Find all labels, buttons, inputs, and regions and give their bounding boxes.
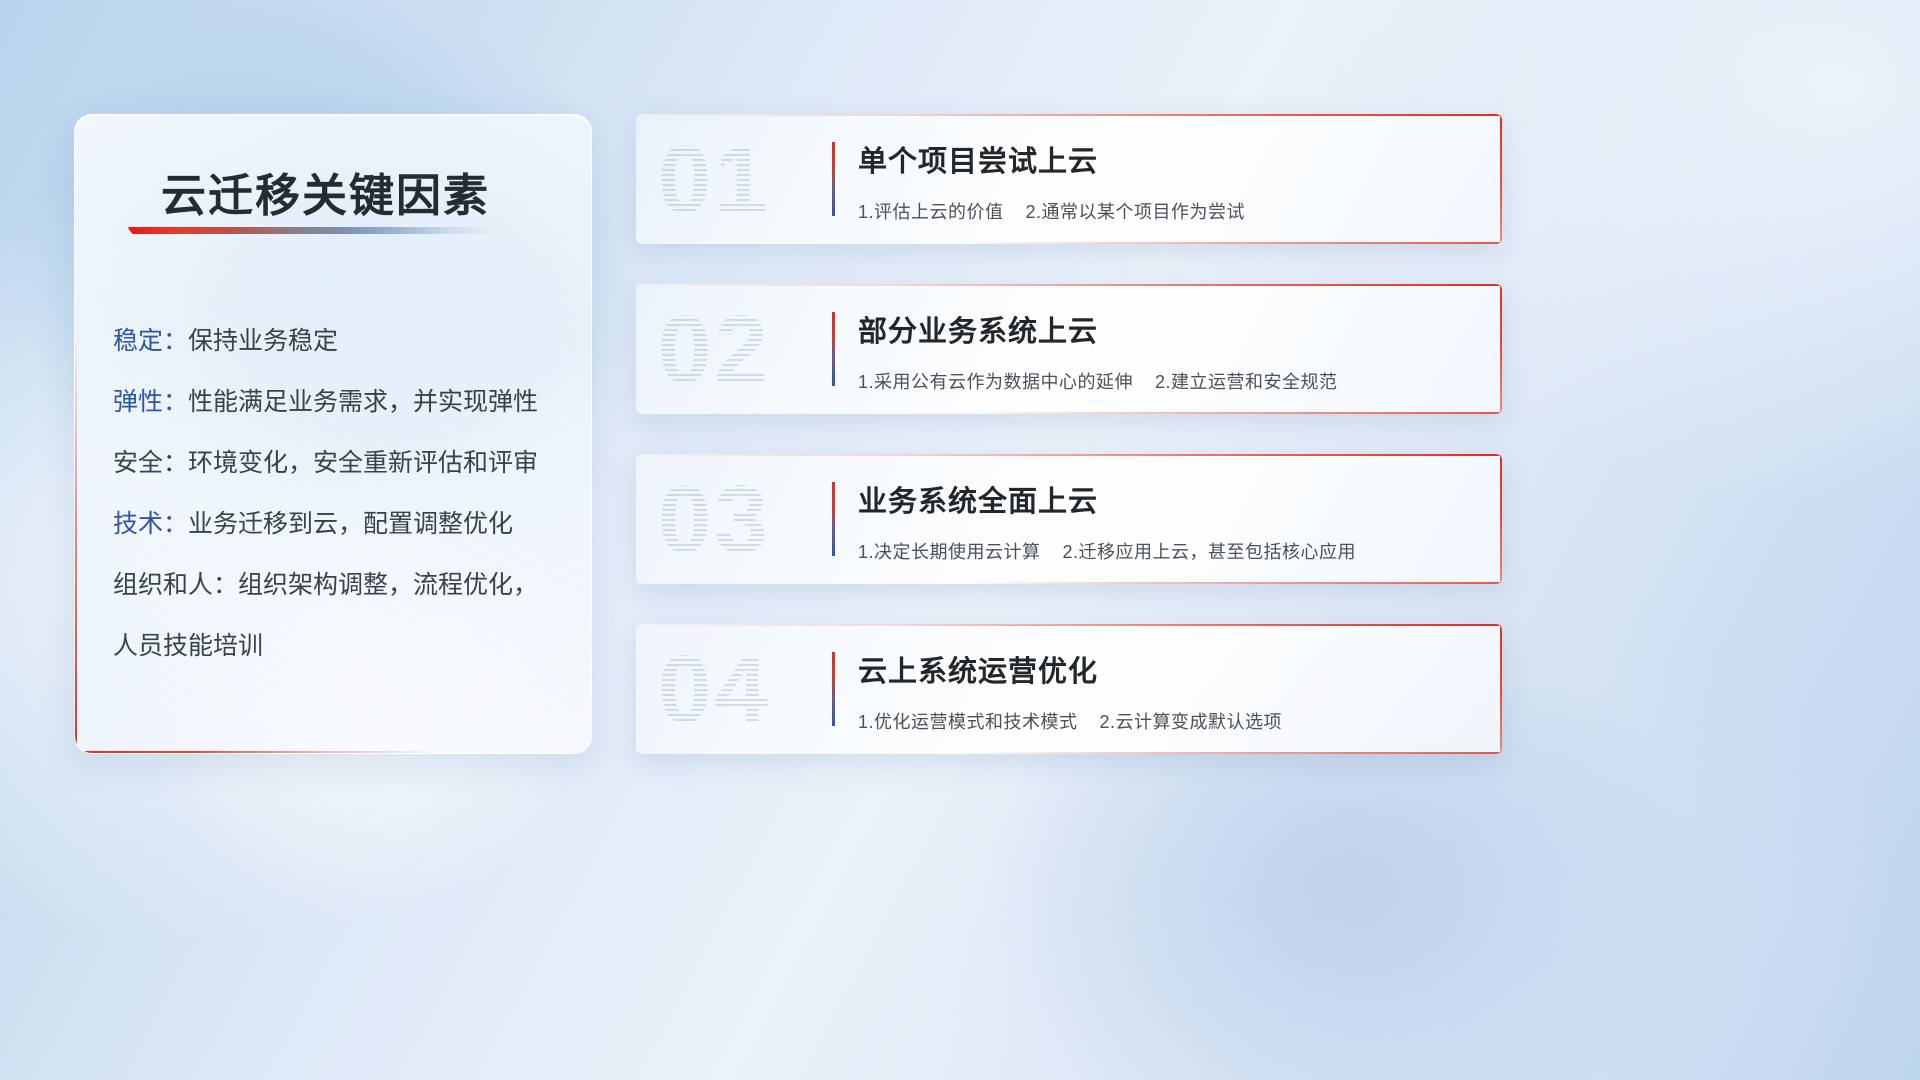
key-factor-text: 环境变化，安全重新评估和评审: [188, 449, 538, 477]
card-accent-bar: [832, 312, 835, 386]
card-title: 部分业务系统上云: [858, 308, 1098, 350]
stage-number-watermark: 02: [658, 294, 771, 406]
key-factor-label: 弹性：: [113, 388, 188, 416]
card-title: 业务系统全面上云: [858, 478, 1098, 520]
card-right-border: [1500, 114, 1502, 244]
card-bottom-border: [965, 412, 1502, 414]
key-factors-list: 稳定：保持业务稳定弹性：性能满足业务需求，并实现弹性安全：环境变化，安全重新评估…: [113, 311, 583, 677]
key-factor-label: 稳定：: [113, 327, 188, 355]
stage-card[interactable]: 02部分业务系统上云1.采用公有云作为数据中心的延伸2.建立运营和安全规范: [636, 284, 1502, 414]
card-accent-bar: [832, 652, 835, 726]
card-description-part-b: 2.迁移应用上云，甚至包括核心应用: [1063, 542, 1357, 562]
card-description-part-b: 2.云计算变成默认选项: [1100, 712, 1283, 732]
stage-number-watermark: 01: [658, 124, 771, 236]
key-factor-text: 保持业务稳定: [188, 327, 338, 355]
card-right-border: [1500, 284, 1502, 414]
card-description: 1.采用公有云作为数据中心的延伸2.建立运营和安全规范: [858, 368, 1338, 394]
card-top-border: [636, 624, 1502, 626]
key-factor-text: 性能满足业务需求，并实现弹性: [188, 388, 538, 416]
slide-stage: 云迁移关键因素 稳定：保持业务稳定弹性：性能满足业务需求，并实现弹性安全：环境变…: [0, 0, 1920, 1080]
key-factor-label: 安全：: [113, 449, 188, 477]
key-factor-label: 组织和人：: [113, 571, 238, 599]
card-description: 1.评估上云的价值2.通常以某个项目作为尝试: [858, 198, 1245, 224]
card-description: 1.决定长期使用云计算2.迁移应用上云，甚至包括核心应用: [858, 538, 1356, 564]
key-factor-item: 弹性：性能满足业务需求，并实现弹性: [113, 372, 583, 433]
stage-card-list: 01单个项目尝试上云1.评估上云的价值2.通常以某个项目作为尝试02部分业务系统…: [636, 114, 1502, 794]
key-factor-text: 业务迁移到云，配置调整优化: [188, 510, 513, 538]
card-description-part-b: 2.建立运营和安全规范: [1155, 372, 1338, 392]
key-factors-panel: 云迁移关键因素 稳定：保持业务稳定弹性：性能满足业务需求，并实现弹性安全：环境变…: [74, 114, 592, 754]
card-description-part-b: 2.通常以某个项目作为尝试: [1026, 202, 1246, 222]
card-bottom-border: [965, 752, 1502, 754]
stage-number-watermark: 03: [658, 464, 771, 576]
key-factor-text: 组织架构调整，流程优化，: [238, 571, 538, 599]
card-right-border: [1500, 454, 1502, 584]
card-bottom-border: [965, 242, 1502, 244]
key-factor-item: 稳定：保持业务稳定: [113, 311, 583, 372]
stage-card[interactable]: 01单个项目尝试上云1.评估上云的价值2.通常以某个项目作为尝试: [636, 114, 1502, 244]
card-top-border: [636, 454, 1502, 456]
card-description-part-a: 1.优化运营模式和技术模式: [858, 712, 1078, 732]
stage-card[interactable]: 03业务系统全面上云1.决定长期使用云计算2.迁移应用上云，甚至包括核心应用: [636, 454, 1502, 584]
stage-card[interactable]: 04云上系统运营优化1.优化运营模式和技术模式2.云计算变成默认选项: [636, 624, 1502, 754]
key-factor-item: 安全：环境变化，安全重新评估和评审: [113, 433, 583, 494]
key-factor-label: 技术：: [113, 510, 188, 538]
card-description-part-a: 1.采用公有云作为数据中心的延伸: [858, 372, 1133, 392]
key-factor-text: 人员技能培训: [113, 632, 263, 660]
card-right-border: [1500, 624, 1502, 754]
card-bottom-border: [965, 582, 1502, 584]
key-factor-item: 人员技能培训: [113, 616, 583, 677]
card-top-border: [636, 284, 1502, 286]
key-factor-item: 技术：业务迁移到云，配置调整优化: [113, 494, 583, 555]
card-title: 单个项目尝试上云: [858, 138, 1098, 180]
card-description-part-a: 1.决定长期使用云计算: [858, 542, 1041, 562]
page-title: 云迁移关键因素: [161, 159, 490, 224]
stage-number-watermark: 04: [658, 634, 771, 746]
card-description: 1.优化运营模式和技术模式2.云计算变成默认选项: [858, 708, 1282, 734]
title-underline-gradient: [127, 227, 495, 234]
card-description-part-a: 1.评估上云的价值: [858, 202, 1004, 222]
key-factor-item: 组织和人：组织架构调整，流程优化，: [113, 555, 583, 616]
card-accent-bar: [832, 142, 835, 216]
card-top-border: [636, 114, 1502, 116]
card-title: 云上系统运营优化: [858, 648, 1098, 690]
card-accent-bar: [832, 482, 835, 556]
